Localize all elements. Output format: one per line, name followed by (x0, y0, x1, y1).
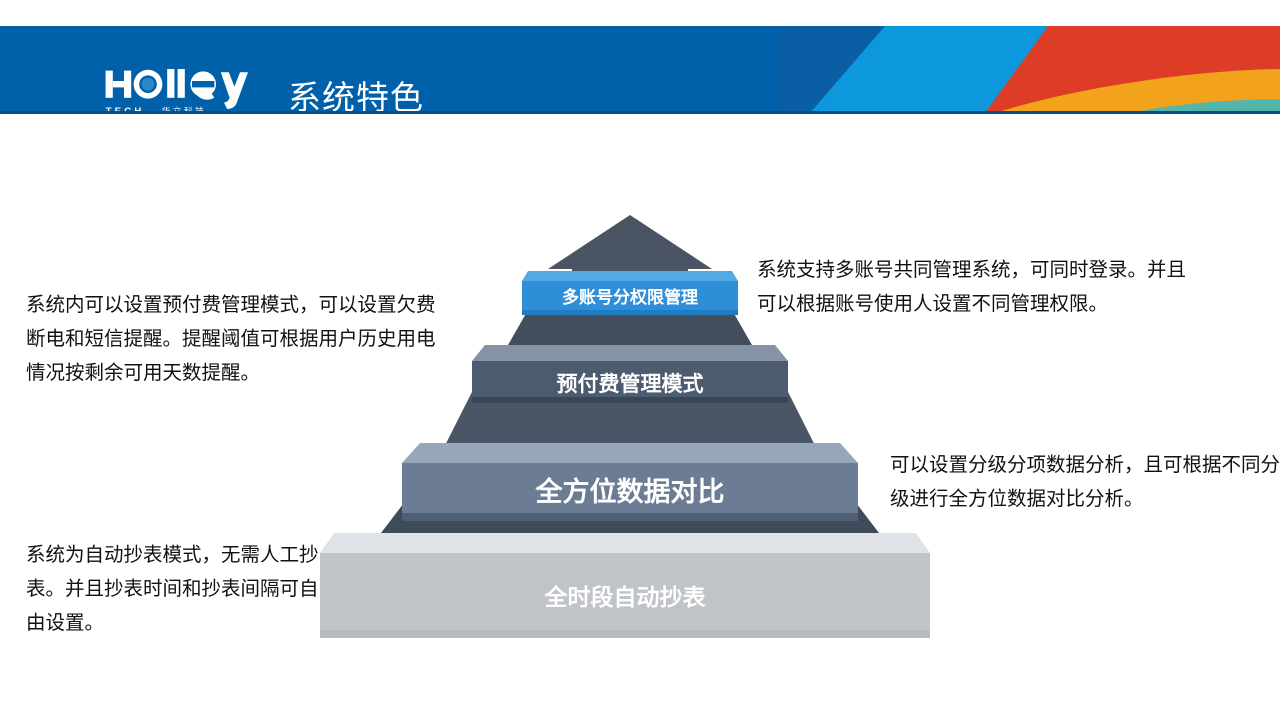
level-3-bottom-shade (402, 513, 858, 521)
level-4-label: 全时段自动抄表 (544, 584, 707, 610)
annotation-multi-account: 系统支持多账号共同管理系统，可同时登录。并且可以根据账号使用人设置不同管理权限。 (757, 253, 1187, 321)
pyramid-level-3[interactable]: 全方位数据对比 (402, 443, 858, 521)
header-underline (0, 111, 1280, 114)
level-2-bottom-shade (472, 397, 788, 403)
slide-canvas: TECH 华立科技 系统特色 (0, 0, 1280, 720)
holley-logo-mark: TECH 华立科技 (104, 67, 264, 113)
pyramid-level-1[interactable]: 多账号分权限管理 (522, 271, 738, 315)
header-bar: TECH 华立科技 系统特色 (0, 26, 1280, 113)
pyramid-apex-arrow-head (548, 215, 712, 269)
annotation-auto-meter-reading: 系统为自动抄表模式，无需人工抄表。并且抄表时间和抄表间隔可自由设置。 (26, 538, 326, 640)
level-3-top-face (402, 443, 858, 463)
level-1-bottom-shade (522, 310, 738, 315)
page-title: 系统特色 (288, 76, 424, 113)
annotation-prepaid-mode: 系统内可以设置预付费管理模式，可以设置欠费断电和短信提醒。提醒阈值可根据用户历史… (26, 288, 436, 390)
level-1-top-face (522, 271, 738, 281)
level-3-label: 全方位数据对比 (535, 476, 725, 507)
annotation-data-comparison: 可以设置分级分项数据分析，且可根据不同分级进行全方位数据对比分析。 (890, 448, 1280, 516)
pyramid-level-4[interactable]: 全时段自动抄表 (320, 533, 930, 638)
holley-logo: TECH 华立科技 (104, 67, 264, 113)
header-swoosh-decoration (780, 26, 1280, 113)
level-4-top-face (320, 533, 930, 553)
level-4-bottom-shade (320, 630, 930, 638)
pyramid-level-2[interactable]: 预付费管理模式 (472, 345, 788, 403)
level-2-label: 预付费管理模式 (557, 372, 704, 396)
level-2-top-face (472, 345, 788, 361)
level-1-label: 多账号分权限管理 (562, 287, 698, 307)
